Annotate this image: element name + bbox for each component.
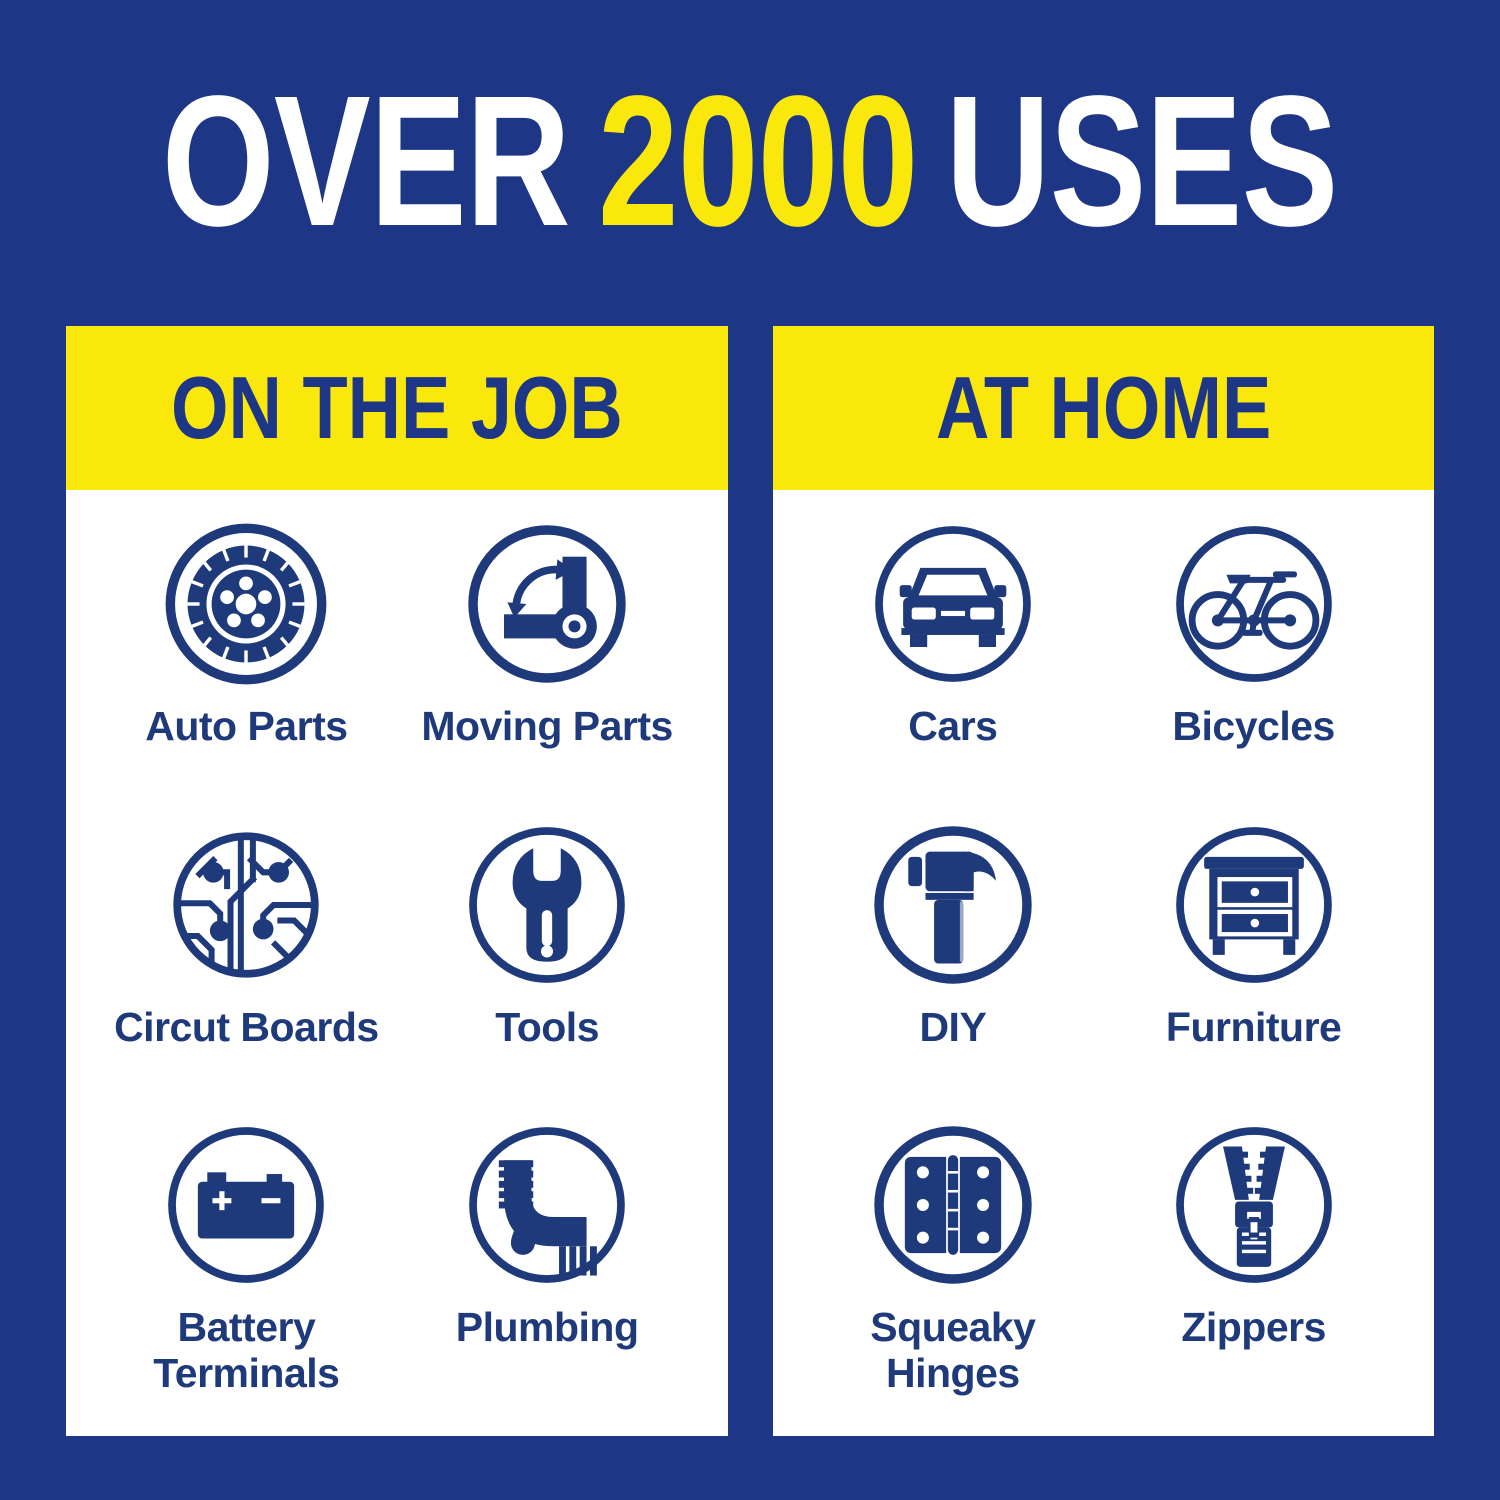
use-case-plumbing[interactable]: Plumbing — [397, 1109, 698, 1410]
use-case-battery-terminals-label: Battery Terminals — [153, 1305, 339, 1397]
use-case-bicycles[interactable]: Bicycles — [1103, 508, 1404, 809]
use-case-furniture[interactable]: Furniture — [1103, 809, 1404, 1110]
panel-header-on-the-job: ON THE JOB — [66, 326, 728, 490]
use-case-auto-parts-label: Auto Parts — [145, 704, 347, 750]
car-battery-icon — [160, 1119, 332, 1291]
use-case-furniture-label: Furniture — [1166, 1005, 1341, 1051]
use-case-plumbing-label: Plumbing — [456, 1305, 639, 1351]
elbow-pipe-drip-icon — [461, 1119, 633, 1291]
use-case-circuit-boards[interactable]: Circut Boards — [96, 809, 397, 1110]
panel-at-home: AT HOME — [773, 326, 1435, 1436]
use-case-diy-label: DIY — [919, 1005, 986, 1051]
claw-hammer-icon — [867, 819, 1039, 991]
use-case-cars-label: Cars — [908, 704, 997, 750]
use-case-bicycles-label: Bicycles — [1172, 704, 1334, 750]
panel-body-at-home: Cars — [773, 490, 1435, 1436]
title-number-highlight: 2000 — [598, 58, 918, 265]
page-title-text: OVER2000USES — [162, 74, 1338, 251]
use-case-zippers[interactable]: Zippers — [1103, 1109, 1404, 1410]
use-case-tools[interactable]: Tools — [397, 809, 698, 1110]
use-case-moving-parts-label: Moving Parts — [421, 704, 672, 750]
panel-header-at-home-label: AT HOME — [936, 357, 1271, 459]
use-case-cars[interactable]: Cars — [803, 508, 1104, 809]
use-case-squeaky-hinges[interactable]: Squeaky Hinges — [803, 1109, 1104, 1410]
page-title: OVER2000USES — [0, 62, 1500, 262]
panel-header-at-home: AT HOME — [773, 326, 1435, 490]
panel-header-on-the-job-label: ON THE JOB — [171, 357, 623, 459]
panel-body-on-the-job: Auto Parts — [66, 490, 728, 1436]
use-case-auto-parts[interactable]: Auto Parts — [96, 508, 397, 809]
use-case-circuit-boards-label: Circut Boards — [114, 1005, 379, 1051]
title-word-over: OVER — [162, 58, 570, 265]
wrench-icon — [461, 819, 633, 991]
use-case-battery-terminals[interactable]: Battery Terminals — [96, 1109, 397, 1410]
bicycle-icon — [1168, 518, 1340, 690]
title-word-uses: USES — [946, 58, 1338, 265]
panel-on-the-job: ON THE JOB — [66, 326, 728, 1436]
tire-wheel-icon — [160, 518, 332, 690]
circuit-board-icon — [160, 819, 332, 991]
pivot-hinge-rotation-icon — [461, 518, 633, 690]
nightstand-dresser-icon — [1168, 819, 1340, 991]
use-case-zippers-label: Zippers — [1181, 1305, 1326, 1351]
use-case-tools-label: Tools — [495, 1005, 599, 1051]
use-case-diy[interactable]: DIY — [803, 809, 1104, 1110]
car-front-icon — [867, 518, 1039, 690]
infographic-root: OVER2000USES ON THE JOB — [0, 0, 1500, 1500]
panels-container: ON THE JOB — [66, 326, 1434, 1436]
use-case-squeaky-hinges-label: Squeaky Hinges — [870, 1305, 1035, 1397]
use-case-moving-parts[interactable]: Moving Parts — [397, 508, 698, 809]
zipper-icon — [1168, 1119, 1340, 1291]
door-hinge-icon — [867, 1119, 1039, 1291]
